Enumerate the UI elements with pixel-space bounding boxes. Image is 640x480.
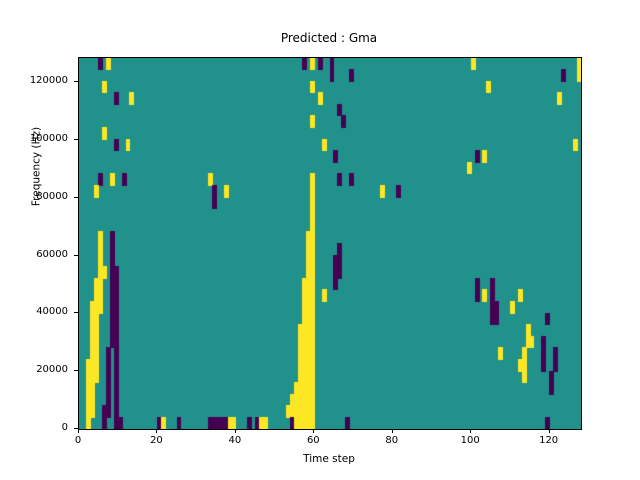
y-tick-mark: [74, 81, 78, 82]
heatmap-image: [79, 58, 581, 429]
y-tick-mark: [74, 197, 78, 198]
y-tick-mark: [74, 255, 78, 256]
x-tick-mark: [235, 429, 236, 433]
y-tick-mark: [74, 139, 78, 140]
y-tick-mark: [74, 370, 78, 371]
matplotlib-figure: Predicted : Gma 020406080100120 02000040…: [0, 0, 640, 480]
x-tick-mark: [392, 429, 393, 433]
chart-title: Predicted : Gma: [78, 30, 580, 46]
y-axis-label: Frequency (Hz): [31, 57, 44, 277]
x-tick-mark: [313, 429, 314, 433]
x-tick-label: 0: [48, 435, 108, 447]
x-tick-label: 60: [283, 435, 343, 447]
x-tick-mark: [549, 429, 550, 433]
y-tick-label: 0: [0, 422, 68, 434]
y-tick-mark: [74, 312, 78, 313]
y-tick-label: 40000: [0, 306, 68, 318]
y-tick-label: 20000: [0, 364, 68, 376]
x-tick-mark: [156, 429, 157, 433]
x-tick-label: 80: [362, 435, 422, 447]
x-tick-label: 40: [205, 435, 265, 447]
x-tick-label: 100: [440, 435, 500, 447]
x-axis-label: Time step: [78, 453, 580, 466]
heatmap-axes: [78, 57, 582, 430]
x-tick-mark: [470, 429, 471, 433]
x-tick-mark: [78, 429, 79, 433]
y-tick-mark: [74, 428, 78, 429]
x-tick-label: 120: [519, 435, 579, 447]
x-tick-label: 20: [126, 435, 186, 447]
